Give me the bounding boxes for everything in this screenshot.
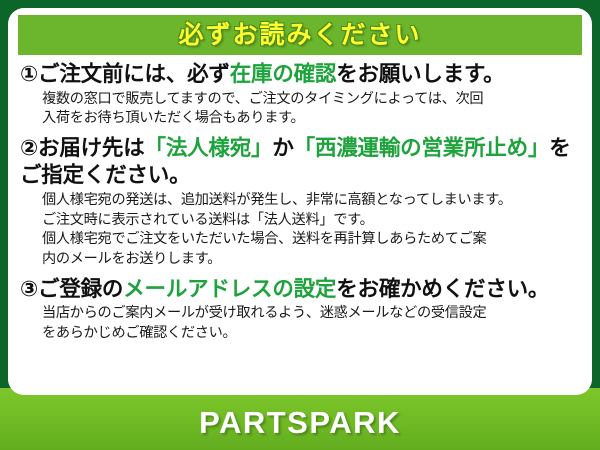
notice-item-3-number: ③ bbox=[20, 277, 38, 301]
notice-item-1-heading-part-2: をお願いします。 bbox=[336, 62, 504, 86]
notice-item-1: ①ご注文前には、必ず在庫の確認をお願いします。 複数の窓口で販売してますので、ご… bbox=[20, 61, 582, 129]
notice-banner: 必ずお読みください ①ご注文前には、必ず在庫の確認をお願いします。 複数の窓口で… bbox=[0, 0, 600, 450]
notice-item-2-subtext: 個人様宅宛の発送は、追加送料が発生し、非常に高額となってしまいます。 ご注文時に… bbox=[20, 191, 582, 269]
notice-card: 必ずお読みください ①ご注文前には、必ず在庫の確認をお願いします。 複数の窓口で… bbox=[8, 8, 592, 395]
notice-item-1-subline-1: 入荷をお待ち頂いただく場合もあります。 bbox=[42, 109, 582, 129]
notice-item-2-heading: ②お届け先は「法人様宛」か「西濃運輸の営業所止め」をご指定ください。 bbox=[20, 135, 582, 188]
notice-header-bar: 必ずお読みください bbox=[18, 15, 582, 55]
notice-item-2-subline-3: 内のメールをお送りします。 bbox=[42, 250, 582, 270]
notice-item-1-number: ① bbox=[20, 62, 38, 86]
notice-item-2-subline-0: 個人様宅宛の発送は、追加送料が発生し、非常に高額となってしまいます。 bbox=[42, 191, 582, 211]
notice-item-1-subline-0: 複数の窓口で販売してますので、ご注文のタイミングによっては、次回 bbox=[42, 90, 582, 110]
footer-green-band bbox=[0, 388, 600, 450]
notice-body: ①ご注文前には、必ず在庫の確認をお願いします。 複数の窓口で販売してますので、ご… bbox=[8, 55, 592, 343]
notice-item-1-heading-part-0: ご注文前には、必ず bbox=[38, 62, 230, 86]
notice-item-2: ②お届け先は「法人様宛」か「西濃運輸の営業所止め」をご指定ください。 個人様宅宛… bbox=[20, 135, 582, 270]
notice-item-2-subline-1: ご注文時に表示されている送料は「法人送料」です。 bbox=[42, 211, 582, 231]
notice-item-3-subline-0: 当店からのご案内メールが受け取れるよう、迷惑メールなどの受信設定 bbox=[42, 304, 582, 324]
notice-item-2-subline-2: 個人様宅宛でご注文をいただいた場合、送料を再計算しあらためてご案 bbox=[42, 230, 582, 250]
notice-item-3-subtext: 当店からのご案内メールが受け取れるよう、迷惑メールなどの受信設定 をあらかじめご… bbox=[20, 304, 582, 343]
notice-item-3-heading-part-2: をお確かめください。 bbox=[336, 277, 549, 301]
notice-title: 必ずお読みください bbox=[178, 23, 421, 48]
notice-item-2-heading-part-3: 「西濃運輸の営業所止め」 bbox=[294, 136, 550, 160]
notice-item-1-subtext: 複数の窓口で販売してますので、ご注文のタイミングによっては、次回 入荷をお待ち頂… bbox=[20, 90, 582, 129]
notice-item-1-heading: ①ご注文前には、必ず在庫の確認をお願いします。 bbox=[20, 61, 582, 88]
notice-item-1-heading-part-1: 在庫の確認 bbox=[230, 62, 337, 86]
notice-item-2-number: ② bbox=[20, 136, 38, 160]
notice-item-3-heading-part-1: メールアドレスの設定 bbox=[123, 277, 336, 301]
notice-item-3-subline-1: をあらかじめご確認ください。 bbox=[42, 324, 582, 344]
notice-item-3: ③ご登録のメールアドレスの設定をお確かめください。 当店からのご案内メールが受け… bbox=[20, 276, 582, 344]
notice-item-3-heading-part-0: ご登録の bbox=[38, 277, 123, 301]
notice-item-2-heading-part-2: か bbox=[272, 136, 293, 160]
notice-item-2-heading-part-0: お届け先は bbox=[38, 136, 145, 160]
notice-item-2-heading-part-1: 「法人様宛」 bbox=[145, 136, 273, 160]
notice-item-3-heading: ③ご登録のメールアドレスの設定をお確かめください。 bbox=[20, 276, 582, 303]
